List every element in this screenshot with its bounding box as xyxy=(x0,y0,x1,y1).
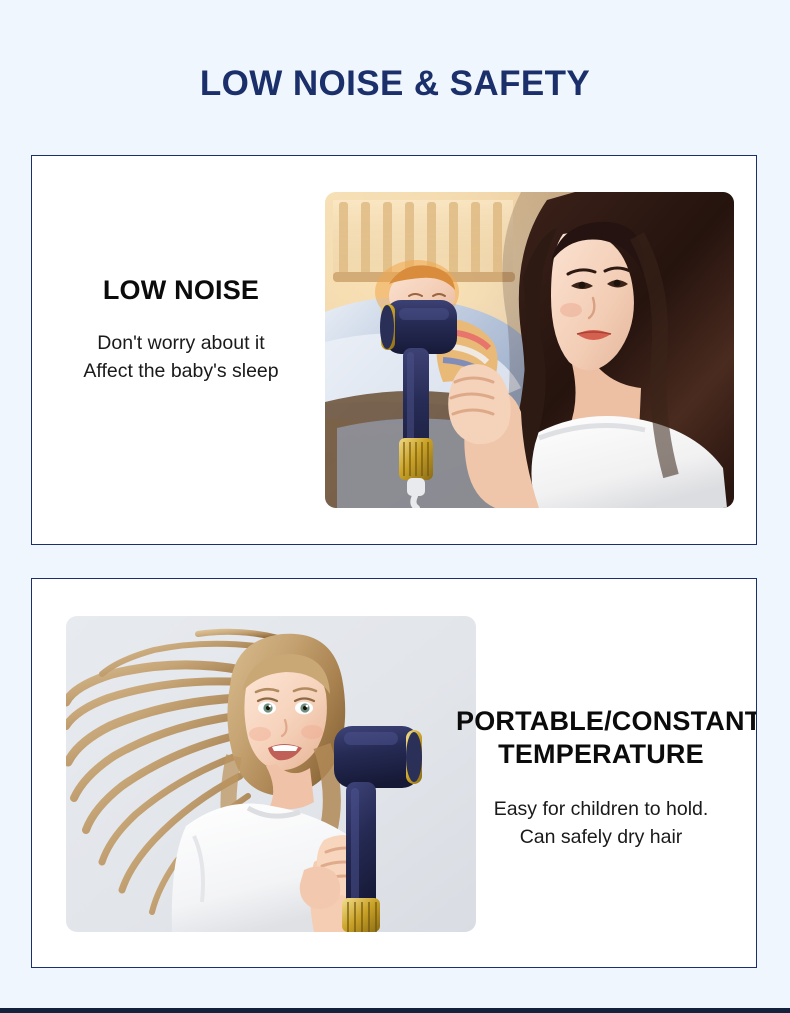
woman-drying-hair-beside-sleeping-baby-photo xyxy=(325,192,734,508)
photo-2-illustration xyxy=(66,616,476,932)
feature-headline-portable-constant-temperature: PORTABLE/CONSTANT TEMPERATURE xyxy=(456,705,746,771)
page-title: LOW NOISE & SAFETY xyxy=(0,62,790,106)
feature-body-line-1: Don't worry about it xyxy=(46,329,316,357)
feature-headline-low-noise: LOW NOISE xyxy=(46,274,316,307)
feature-text-block-portable-constant-temperature: PORTABLE/CONSTANT TEMPERATURE Easy for c… xyxy=(456,705,746,851)
feature-text-block-low-noise: LOW NOISE Don't worry about it Affect th… xyxy=(46,274,316,385)
feature-body-line-1: Easy for children to hold. xyxy=(456,795,746,823)
bottom-accent-bar xyxy=(0,1008,790,1013)
photo-1-illustration xyxy=(325,192,734,508)
feature-card-portable-constant-temperature: PORTABLE/CONSTANT TEMPERATURE Easy for c… xyxy=(31,578,757,968)
feature-headline-line-1: PORTABLE/CONSTANT xyxy=(456,705,746,738)
feature-card-low-noise: LOW NOISE Don't worry about it Affect th… xyxy=(31,155,757,545)
feature-headline-line-2: TEMPERATURE xyxy=(456,738,746,771)
feature-body-line-2: Can safely dry hair xyxy=(456,823,746,851)
child-holding-hair-dryer-photo xyxy=(66,616,476,932)
feature-body-line-2: Affect the baby's sleep xyxy=(46,357,316,385)
